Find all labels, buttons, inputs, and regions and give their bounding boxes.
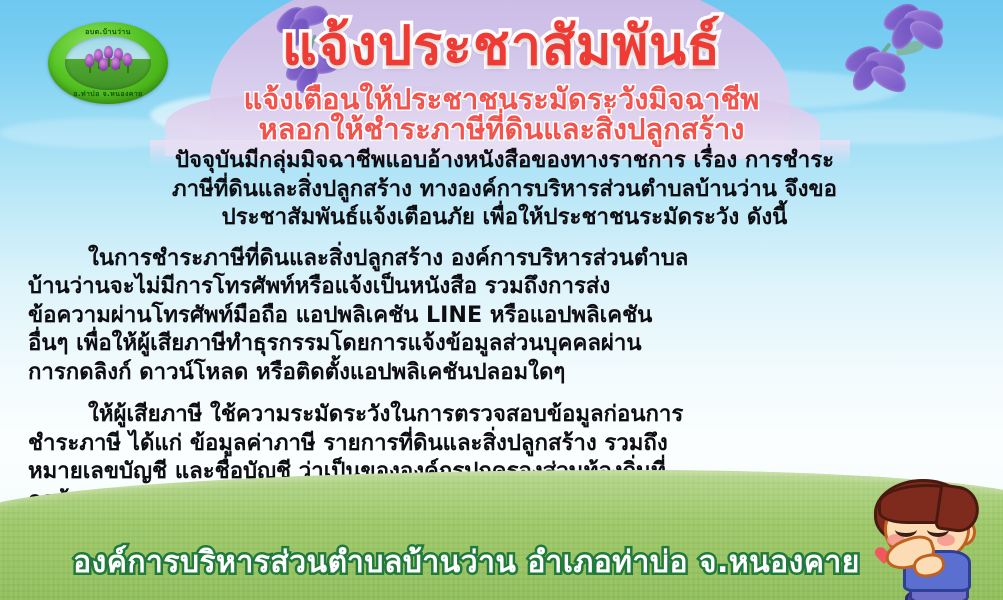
poster-body: ปัจจุบันมีกลุ่มมิจฉาชีพแอบอ้างหนังสือของ… — [28, 146, 981, 514]
body-paragraph-2: ในการชำระภาษีที่ดินและสิ่งปลูกสร้าง องค์… — [28, 244, 981, 387]
boy-mascot-icon — [851, 478, 997, 598]
paragraph-line: การกดลิงก์ ดาวน์โหลด หรือติดตั้งแอปพลิเค… — [28, 358, 981, 387]
paragraph-line: อื่นๆ เพื่อให้ผู้เสียภาษีทำธุรกรรมโดยการ… — [28, 329, 981, 358]
paragraph-line: ในการชำระภาษีที่ดินและสิ่งปลูกสร้าง องค์… — [28, 244, 981, 273]
paragraph-line: บ้านว่านจะไม่มีการโทรศัพท์หรือแจ้งเป็นหน… — [28, 272, 981, 301]
paragraph-line: ชำระภาษี ได้แก่ ข้อมูลค่าภาษี รายการที่ด… — [28, 429, 981, 458]
poster-subheadline-line2: หลอกให้ชำระภาษีที่ดินและสิ่งปลูกสร้าง — [0, 112, 1003, 146]
paragraph-line: ให้ผู้เสียภาษี ใช้ความระมัดระวังในการตรว… — [28, 400, 981, 429]
paragraph-line: ปัจจุบันมีกลุ่มมิจฉาชีพแอบอ้างหนังสือของ… — [28, 146, 981, 175]
paragraph-line: ภาษีที่ดินและสิ่งปลูกสร้าง ทางองค์การบริ… — [28, 175, 981, 204]
body-paragraph-1: ปัจจุบันมีกลุ่มมิจฉาชีพแอบอ้างหนังสือของ… — [28, 146, 981, 232]
mascot-eye — [895, 522, 917, 537]
paragraph-line: ประชาสัมพันธ์แจ้งเตือนภัย เพื่อให้ประชาช… — [28, 203, 981, 232]
poster-headline: แจ้งประชาสัมพันธ์ — [0, 18, 1003, 74]
mascot-eye — [927, 522, 949, 537]
paragraph-line: ข้อความผ่านโทรศัพท์มือถือ แอปพลิเคชัน LI… — [28, 301, 981, 330]
announcement-poster: อบต.บ้านว่าน อ.ท่าบ่อ จ.หนองคาย แจ้งประช… — [0, 0, 1003, 600]
